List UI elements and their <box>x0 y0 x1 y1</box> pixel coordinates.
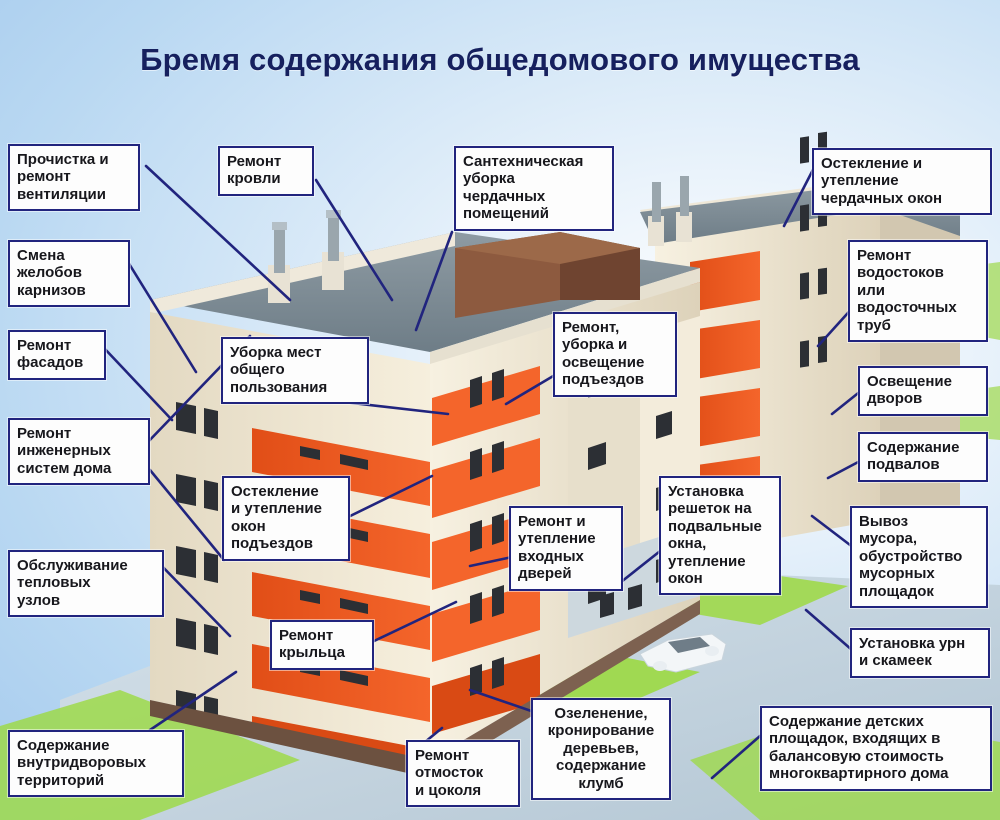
callout-common-areas[interactable]: Уборка мест общего пользования <box>221 337 369 404</box>
callout-entrance-glazing[interactable]: Остекление и утепление окон подъездов <box>222 476 350 561</box>
callout-text: Ремонт фасадов <box>17 337 97 372</box>
callout-text: Ремонт кровли <box>227 153 305 188</box>
callout-ventilation[interactable]: Прочистка и ремонт вентиляции <box>8 144 140 211</box>
callout-text: Вывоз мусора, обустройство мусорных площ… <box>859 513 979 600</box>
callout-text: Ремонт, уборка и освещение подъездов <box>562 319 668 389</box>
callout-text: Ремонт инженерных систем дома <box>17 425 141 477</box>
callout-text: Остекление и утепление окон подъездов <box>231 483 341 553</box>
callout-text: Озеленение, кронирование деревьев, содер… <box>540 705 662 792</box>
callout-gutters-cornices[interactable]: Смена желобов карнизов <box>8 240 130 307</box>
callout-basement-grilles[interactable]: Установка решеток на подвальные окна, ут… <box>659 476 781 595</box>
callout-text: Смена желобов карнизов <box>17 247 121 299</box>
callout-text: Уборка мест общего пользования <box>230 344 360 396</box>
callout-text: Ремонт водостоков или водосточных труб <box>857 247 979 334</box>
callout-yard-lighting[interactable]: Освещение дворов <box>858 366 988 416</box>
callout-attic-windows[interactable]: Остекление и утепление чердачных окон <box>812 148 992 215</box>
callout-basements[interactable]: Содержание подвалов <box>858 432 988 482</box>
infographic-canvas: Бремя содержания общедомового имущества <box>0 0 1000 820</box>
callout-text: Сантехническая уборка чердачных помещени… <box>463 153 605 223</box>
callout-blind-area[interactable]: Ремонт отмосток и цоколя <box>406 740 520 807</box>
callout-downpipes[interactable]: Ремонт водостоков или водосточных труб <box>848 240 988 342</box>
callout-roof-repair[interactable]: Ремонт кровли <box>218 146 314 196</box>
callout-text: Остекление и утепление чердачных окон <box>821 155 983 207</box>
callout-engineering-systems[interactable]: Ремонт инженерных систем дома <box>8 418 150 485</box>
callout-text: Содержание подвалов <box>867 439 979 474</box>
callout-yard-territories[interactable]: Содержание внутридворовых территорий <box>8 730 184 797</box>
callout-text: Ремонт отмосток и цоколя <box>415 747 511 799</box>
callout-text: Содержание внутридворовых территорий <box>17 737 175 789</box>
callout-entrances[interactable]: Ремонт, уборка и освещение подъездов <box>553 312 677 397</box>
callout-text: Установка решеток на подвальные окна, ут… <box>668 483 772 587</box>
callout-entrance-doors[interactable]: Ремонт и утепление входных дверей <box>509 506 623 591</box>
callout-text: Ремонт и утепление входных дверей <box>518 513 614 583</box>
callout-heating-units[interactable]: Обслуживание тепловых узлов <box>8 550 164 617</box>
callout-text: Освещение дворов <box>867 373 979 408</box>
building-illustration <box>0 0 1000 820</box>
callout-attic-cleaning[interactable]: Сантехническая уборка чердачных помещени… <box>454 146 614 231</box>
callout-waste-removal[interactable]: Вывоз мусора, обустройство мусорных площ… <box>850 506 988 608</box>
callout-landscaping[interactable]: Озеленение, кронирование деревьев, содер… <box>531 698 671 800</box>
callout-text: Ремонт крыльца <box>279 627 365 662</box>
callout-facades[interactable]: Ремонт фасадов <box>8 330 106 380</box>
callout-text: Обслуживание тепловых узлов <box>17 557 155 609</box>
callout-text: Содержание детских площадок, входящих в … <box>769 713 983 783</box>
callout-text: Установка урн и скамеек <box>859 635 981 670</box>
callout-text: Прочистка и ремонт вентиляции <box>17 151 131 203</box>
callout-playgrounds[interactable]: Содержание детских площадок, входящих в … <box>760 706 992 791</box>
callout-bins-benches[interactable]: Установка урн и скамеек <box>850 628 990 678</box>
callout-porch-repair[interactable]: Ремонт крыльца <box>270 620 374 670</box>
